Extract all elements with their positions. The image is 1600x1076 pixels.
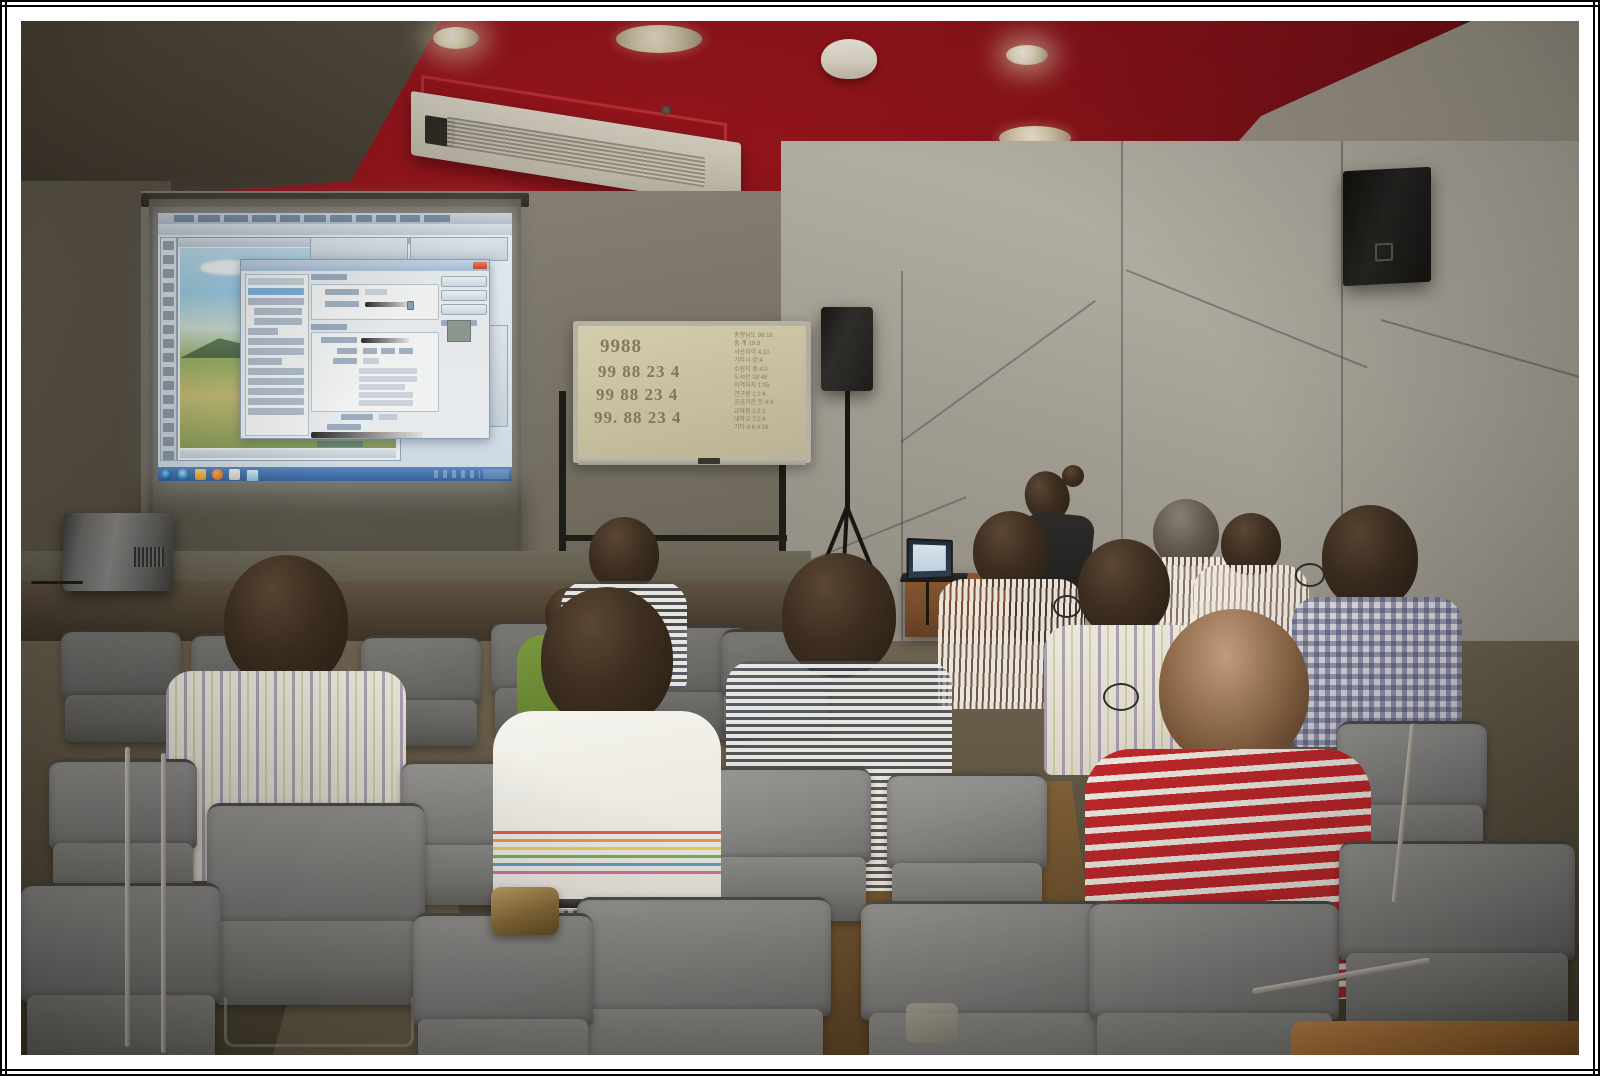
rainbow-stripe [493,847,721,850]
pdf-reader-icon[interactable] [229,469,240,480]
value-blend-mode [365,289,387,295]
whiteboard-entry: 대학교 7:2:4 [734,416,800,424]
frame-line-outer-top [0,0,1600,2]
chair-foreground[interactable] [207,803,425,1013]
style-item-inner-shadow[interactable] [248,338,304,345]
glasses-icon [1103,683,1139,711]
menu-item-filter[interactable] [330,215,352,222]
object-on-floor [906,1003,958,1043]
history-panel[interactable] [310,237,408,261]
checkbox-channel-b[interactable] [399,348,413,354]
whiteboard-eraser [698,458,720,464]
whiteboard-entry: 기타시 양:4 [734,357,800,365]
chair-seat [214,921,419,1005]
whiteboard-entry: 충 계 19:8 [734,340,800,348]
crt-monitor [63,513,173,591]
windows-taskbar[interactable] [158,467,512,481]
chair-back [1339,841,1575,960]
whiteboard-line-1: 9988 [600,336,642,358]
style-item-texture[interactable] [254,318,302,325]
chair-back [887,773,1047,869]
head [1159,609,1309,767]
cancel-button[interactable] [441,290,487,301]
frame-line-outer-left [0,0,2,1076]
rainbow-stripe [493,863,721,866]
move-tool-icon[interactable] [163,241,174,250]
value-blend-if [379,414,397,420]
checkbox-channel-g[interactable] [381,348,395,354]
internet-explorer-icon[interactable] [178,469,189,480]
whiteboard-right-column: 총청남도 88:18 충 계 19:8 서산지역 4:10 기타시 양:4 수원… [734,332,800,433]
whiteboard-entry: 연구원 1:2:4 [734,391,800,399]
folder-icon[interactable] [195,469,206,480]
close-icon[interactable] [473,262,487,269]
chair-chrome-frame [125,747,130,1047]
section-label-blending [311,274,347,280]
menu-item-window[interactable] [400,215,420,222]
chair-back [577,897,831,1016]
system-tray[interactable] [434,470,480,478]
style-item-satin[interactable] [248,358,282,365]
start-orb-icon[interactable] [161,469,172,480]
document-statusbar [180,450,396,458]
whiteboard-entry: 서산지역 4:10 [734,349,800,357]
photograph: 9988 99 88 23 4 99 88 23 4 99. 88 23 4 총… [21,21,1579,1055]
whiteboard-line-4: 99. 88 23 4 [594,408,682,428]
pa-speaker [821,307,873,391]
gradient-tool-icon[interactable] [163,395,174,404]
screen-surface [153,207,517,565]
chair-foreground[interactable] [21,883,221,1055]
recessed-light-icon [616,25,702,53]
whiteboard-entry: 기타 8:6:4:16 [734,424,800,432]
head [541,587,673,729]
eraser-tool-icon[interactable] [163,381,174,390]
downlight-icon [1006,45,1048,65]
glasses-icon [1295,563,1325,587]
wood-chair-edge [1291,1021,1579,1055]
menu-item-edit[interactable] [198,215,220,222]
style-item-bevel-emboss[interactable] [248,298,304,305]
whiteboard-entry: 교육청 1:2:1 [734,408,800,416]
smoke-detector-icon [821,39,877,79]
lasso-tool-icon[interactable] [163,269,174,278]
menu-item-type[interactable] [280,215,300,222]
photoshop-toolbar[interactable] [160,237,177,461]
panel-seam-diagonal [1126,269,1368,368]
chair-legs [224,997,413,1046]
chair-seat [27,995,215,1055]
frame-line-inner-top [0,5,1600,7]
projected-desktop [158,213,512,481]
style-list-header [248,278,304,285]
label-blend-mode [325,289,359,295]
whiteboard-entry: 총청남도 88:18 [734,332,800,340]
monitor-vent [134,547,164,567]
photoshop-menubar[interactable] [158,213,512,224]
hand-tool-icon[interactable] [163,451,174,460]
menu-item-file[interactable] [174,215,194,222]
style-item-outer-glow[interactable] [248,398,304,405]
rainbow-stripe [493,871,721,874]
label-opacity [325,301,359,307]
checkbox-vector-mask-hides[interactable] [359,400,413,406]
label-this-layer [327,424,361,430]
opacity-slider-knob[interactable] [407,301,414,310]
chair-foreground[interactable] [577,897,831,1055]
style-item-contour[interactable] [254,308,302,315]
wall-speaker [1343,167,1431,287]
media-player-icon[interactable] [212,469,223,480]
opacity-slider[interactable] [365,302,411,307]
style-item-drop-shadow[interactable] [248,408,304,415]
photoshop-icon[interactable] [246,469,259,482]
style-item-blending-options[interactable] [248,288,304,295]
menu-item-help[interactable] [424,215,450,222]
whiteboard-line-3: 99 88 23 4 [596,385,678,405]
label-fill-opacity [321,337,357,343]
projection-screen [149,199,521,571]
style-preview-swatch [447,320,471,342]
type-tool-icon[interactable] [163,437,174,446]
ok-button[interactable] [441,276,487,287]
whiteboard-entry: 도서관 18:48 [734,374,800,382]
whiteboard: 9988 99 88 23 4 99 88 23 4 99. 88 23 4 총… [573,321,811,463]
brush-tool-icon[interactable] [163,339,174,348]
head [589,517,659,591]
dodge-tool-icon[interactable] [163,423,174,432]
whiteboard-entry: 공공기관 문:4:4 [734,399,800,407]
checkbox-blend-clipped-layers[interactable] [359,376,417,382]
checkbox-blend-interior-effects[interactable] [359,368,417,374]
whiteboard-entry: 수원지 중:4:0 [734,366,800,374]
wand-tool-icon[interactable] [163,283,174,292]
rainbow-stripe [493,831,721,834]
chair-seat [869,1013,1104,1055]
photoshop-options-bar[interactable] [158,224,512,235]
style-item-stroke[interactable] [248,328,278,335]
label-knockout [333,358,357,364]
head [224,555,348,689]
label-underlying-layer [317,441,363,447]
chair-back [1089,901,1339,1020]
checkbox-layer-mask-hides[interactable] [359,392,413,398]
style-item-gradient-overlay[interactable] [248,378,304,385]
this-layer-range-slider[interactable] [311,432,423,438]
whiteboard-marker-tray [578,458,806,465]
style-item-inner-glow[interactable] [248,348,304,355]
head [1322,505,1418,609]
healing-tool-icon[interactable] [163,325,174,334]
taskbar-clock[interactable] [483,469,509,479]
chair-back [207,803,425,928]
chair-seat [418,1019,587,1055]
menu-item-3d[interactable] [356,215,372,222]
marquee-tool-icon[interactable] [163,255,174,264]
glasses-icon [1053,595,1081,618]
chair-foreground[interactable] [1339,841,1575,1041]
checkbox-channel-r[interactable] [363,348,377,354]
chair-back [711,767,871,863]
menu-item-view[interactable] [376,215,396,222]
fill-opacity-slider[interactable] [361,338,409,343]
hair-bun-icon [1062,465,1084,487]
swatches-panel[interactable] [410,237,508,261]
frame-line-inner-bottom [0,1069,1600,1071]
panel-seam-diagonal [1381,319,1579,384]
style-item-color-overlay[interactable] [248,368,304,375]
panel-seam-diagonal [900,300,1095,443]
whiteboard-line-2: 99 88 23 4 [598,362,680,382]
chair-back [861,901,1111,1020]
label-channels [337,348,357,354]
menu-item-layer[interactable] [252,215,276,222]
history-brush-icon[interactable] [163,367,174,376]
chair-foreground[interactable] [861,901,1111,1055]
rainbow-stripe [493,855,721,858]
rainbow-stripe [493,839,721,842]
eyedropper-tool-icon[interactable] [163,311,174,320]
style-item-pattern-overlay[interactable] [248,388,304,395]
dialog-main-pane [311,274,439,434]
label-blend-if [341,414,373,420]
menu-item-image[interactable] [224,215,248,222]
monitor-cable [31,581,83,584]
frame-line-inner-right [1593,0,1595,1076]
stamp-tool-icon[interactable] [163,353,174,362]
chair-seat [585,1009,824,1055]
head [782,553,896,677]
layer-style-dialog[interactable] [240,259,490,439]
torso [493,711,721,911]
ceiling-screw-icon [661,105,671,115]
dialog-titlebar[interactable] [241,260,489,271]
downlight-icon [433,27,479,49]
new-style-button[interactable] [441,304,487,315]
photo-frame: 9988 99 88 23 4 99 88 23 4 99. 88 23 4 총… [0,0,1600,1076]
section-label-advanced [311,324,347,330]
checkbox-transparency-shapes[interactable] [359,384,405,390]
value-knockout [363,358,379,364]
bag-on-floor [491,887,559,935]
frame-line-inner-left [5,0,7,1076]
chair-back [49,759,197,849]
speaker-badge-icon [1375,243,1393,262]
chair-chrome-frame [161,753,166,1053]
chair-back [21,883,221,1002]
style-list[interactable] [245,274,309,436]
crop-tool-icon[interactable] [163,297,174,306]
menu-item-select[interactable] [304,215,326,222]
whiteboard-entry: 지역자치 1:05 [734,382,800,390]
blur-tool-icon[interactable] [163,409,174,418]
speaker-stand-pole [845,391,850,509]
